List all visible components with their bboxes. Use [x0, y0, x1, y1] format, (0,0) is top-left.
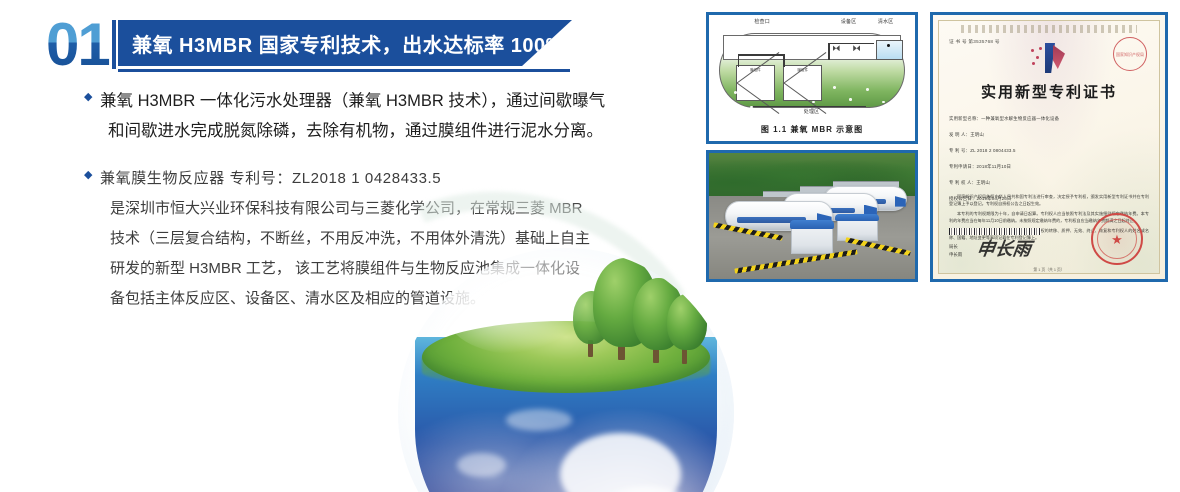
certificate-footnote: 第 1 页（共 1 页） — [933, 268, 1165, 273]
mbr-schematic-panel: 检查口 设备区 清水区 膜组件 膜组件 — [706, 12, 918, 144]
left-content-column: 01 兼氧 H3MBR 国家专利技术，出水达标率 100% ◆ 兼氧 H3MBR… — [0, 0, 700, 492]
section-header-banner: 兼氧 H3MBR 国家专利技术，出水达标率 100% — [118, 20, 572, 66]
certificate-field: 专 利 号：ZL 2018 2 0804433.5 — [949, 143, 1149, 159]
patent-number-line: 兼氧膜生物反应器 专利号：ZL2018 1 0428433.5 — [100, 164, 674, 194]
signature-label-line: 局长 — [949, 243, 962, 251]
equipment-photo — [709, 153, 915, 279]
certificate-signature-label: 局长 申长雨 — [949, 243, 962, 259]
signature-label-line: 申长雨 — [949, 251, 962, 259]
section-number-badge: 01 — [46, 14, 118, 76]
bullet-line: 研发的新型 H3MBR 工艺， 该工艺将膜组件与生物反应池集成一体化设 — [100, 254, 674, 284]
bullet-text: 兼氧 H3MBR 一体化污水处理器（兼氧 H3MBR 技术），通过间歇曝气 和间… — [84, 86, 674, 146]
box-roof — [790, 220, 834, 229]
bullet-line: 和间歇进水完成脱氮除磷，去除有机物，通过膜组件进行泥水分离。 — [100, 116, 674, 146]
diagram-aeration-bubbles — [709, 15, 915, 141]
tank-end-cap — [895, 196, 906, 207]
certificate-top-seal-icon: 国家知识产权局 — [1113, 37, 1147, 71]
patent-certificate: 证 书 号 第3535768 号 国家知识产权局 实用新型专利证书 实用新型名称… — [933, 15, 1165, 279]
mbr-schematic-diagram: 检查口 设备区 清水区 膜组件 膜组件 — [709, 15, 915, 141]
certificate-title: 实用新型专利证书 — [933, 81, 1165, 102]
patent-certificate-panel: 证 书 号 第3535768 号 国家知识产权局 实用新型专利证书 实用新型名称… — [930, 12, 1168, 282]
bullet-text: 兼氧膜生物反应器 专利号：ZL2018 1 0428433.5 是深圳市恒大兴业… — [84, 164, 674, 314]
promo-page: 01 兼氧 H3MBR 国家专利技术，出水达标率 100% ◆ 兼氧 H3MBR… — [0, 0, 1180, 492]
cnipa-logo-icon — [1029, 41, 1069, 75]
certificate-field: 实用新型名称：一种兼氧型水解生物反应器一体化设备 — [949, 111, 1149, 127]
seal-star-icon: ★ — [1111, 233, 1123, 246]
certificate-field: 专利申请日：2018年11月10日 — [949, 159, 1149, 175]
certificate-field: 专 利 权 人：王明山 — [949, 175, 1149, 191]
certificate-official-seal-icon: ★ — [1091, 213, 1143, 265]
body-copy: ◆ 兼氧 H3MBR 一体化污水处理器（兼氧 H3MBR 技术），通过间歇曝气 … — [84, 86, 674, 314]
logo-blade — [1053, 45, 1065, 69]
certificate-number: 证 书 号 第3535768 号 — [949, 39, 1000, 45]
diagram-caption: 图 1.1 兼氧 MBR 示意图 — [709, 124, 915, 135]
certificate-barcode — [949, 228, 1041, 235]
diamond-bullet-icon: ◆ — [84, 168, 96, 182]
bullet-line: 是深圳市恒大兴业环保科技有限公司与三菱化学公司，在常规三菱 MBR — [100, 194, 674, 224]
bullet-item: ◆ 兼氧膜生物反应器 专利号：ZL2018 1 0428433.5 是深圳市恒大… — [84, 164, 674, 314]
box-roof — [835, 214, 879, 221]
certificate-ornament — [961, 25, 1137, 33]
header-accent-tick — [112, 20, 116, 69]
certificate-field: 发 明 人：王明山 — [949, 127, 1149, 143]
control-room-box — [837, 219, 878, 242]
header-underline-rule — [118, 69, 570, 72]
diamond-bullet-icon: ◆ — [84, 90, 96, 104]
equipment-photo-panel — [706, 150, 918, 282]
certificate-paragraph: 国家知识产权局依照中华人民共和国专利法进行审查，决定授予专利权，颁发实用新型专利… — [949, 193, 1149, 207]
bullet-line: 备包括主体反应区、设备区、清水区及相应的管道设施。 — [100, 284, 674, 314]
page-title: 兼氧 H3MBR 国家专利技术，出水达标率 100% — [118, 29, 564, 58]
bullet-line: 技术（三层复合结构，不断丝，不用反冲洗，不用体外清洗）基础上自主 — [100, 224, 674, 254]
label-treatment-zone: 处理区 — [804, 108, 820, 115]
logo-dots — [1031, 47, 1047, 69]
control-room-box — [791, 226, 832, 254]
bullet-item: ◆ 兼氧 H3MBR 一体化污水处理器（兼氧 H3MBR 技术），通过间歇曝气 … — [84, 86, 674, 146]
certificate-handwritten-signature: 申长雨 — [975, 235, 1033, 261]
bullet-line: 兼氧 H3MBR 一体化污水处理器（兼氧 H3MBR 技术），通过间歇曝气 — [100, 86, 674, 116]
